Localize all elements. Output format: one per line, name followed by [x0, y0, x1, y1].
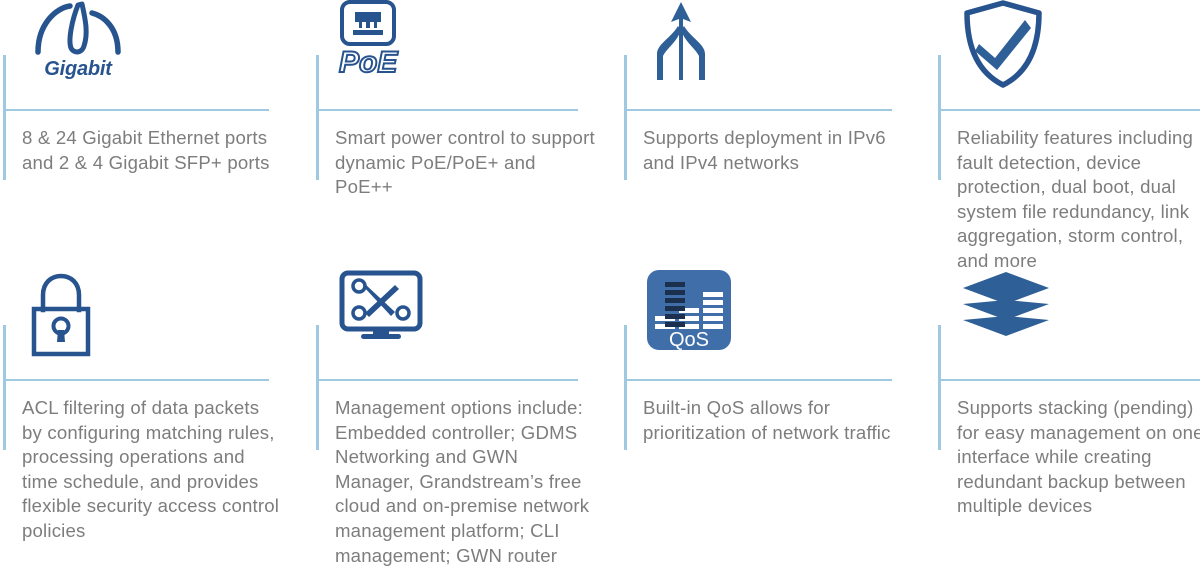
- feature-text: 8 & 24 Gigabit Ethernet ports and 2 & 4 …: [22, 126, 284, 175]
- svg-text:QoS: QoS: [669, 329, 709, 350]
- icon-zone: [20, 270, 280, 374]
- vertical-rule: [316, 55, 319, 180]
- icon-zone: [955, 0, 1200, 104]
- horizontal-rule: [938, 379, 1200, 381]
- shield-check-icon: [961, 0, 1045, 93]
- feature-row-bottom: ACL filtering of data packets by configu…: [0, 270, 1200, 540]
- vertical-rule: [938, 325, 941, 450]
- feature-row-top: Gigabit 8 & 24 Gigabit Ethernet ports an…: [0, 0, 1200, 270]
- horizontal-rule: [3, 109, 269, 111]
- feature-text: Reliability features including fault det…: [957, 126, 1200, 274]
- icon-zone: Gigabit: [20, 0, 280, 104]
- feature-cell-reliability: Reliability features including fault det…: [935, 0, 1200, 270]
- qos-equalizer-icon: QoS: [647, 270, 731, 355]
- vertical-rule: [624, 325, 627, 450]
- feature-text: Supports deployment in IPv6 and IPv4 net…: [643, 126, 893, 175]
- feature-text: Supports stacking (pending) for easy man…: [957, 396, 1200, 519]
- padlock-icon: [26, 270, 96, 365]
- feature-cell-ip-networks: Supports deployment in IPv6 and IPv4 net…: [621, 0, 935, 270]
- feature-cell-poe: PoE Smart power control to support dynam…: [313, 0, 621, 270]
- monitor-tools-icon: [339, 270, 423, 347]
- vertical-rule: [316, 325, 319, 450]
- feature-cell-qos: QoS Built-in QoS allows for prioritizati…: [621, 270, 935, 540]
- horizontal-rule: [624, 379, 892, 381]
- feature-cell-management: Management options include: Embedded con…: [313, 270, 621, 540]
- feature-text: ACL filtering of data packets by configu…: [22, 396, 284, 544]
- feature-text: Management options include: Embedded con…: [335, 396, 597, 568]
- gigabit-logo-icon: Gigabit: [26, 0, 130, 81]
- horizontal-rule: [624, 109, 892, 111]
- feature-cell-gigabit: Gigabit 8 & 24 Gigabit Ethernet ports an…: [0, 0, 313, 270]
- feature-text: Smart power control to support dynamic P…: [335, 126, 597, 200]
- poe-rj45-icon: PoE: [339, 0, 397, 80]
- horizontal-rule: [316, 379, 578, 381]
- vertical-rule: [3, 325, 6, 450]
- vertical-rule: [624, 55, 627, 180]
- feature-text: Built-in QoS allows for prioritization o…: [643, 396, 893, 445]
- feature-grid: Gigabit 8 & 24 Gigabit Ethernet ports an…: [0, 0, 1200, 568]
- gigabit-wordmark: Gigabit: [44, 58, 112, 81]
- horizontal-rule: [316, 109, 578, 111]
- feature-cell-stacking: Supports stacking (pending) for easy man…: [935, 270, 1200, 540]
- horizontal-rule: [938, 109, 1200, 111]
- merging-arrows-icon: [647, 0, 715, 89]
- feature-cell-acl: ACL filtering of data packets by configu…: [0, 270, 313, 540]
- icon-zone: [955, 270, 1200, 374]
- vertical-rule: [3, 55, 6, 180]
- vertical-rule: [938, 55, 941, 180]
- poe-wordmark: PoE: [339, 46, 397, 80]
- icon-zone: [333, 270, 593, 374]
- icon-zone: PoE: [333, 0, 593, 104]
- icon-zone: QoS: [641, 270, 901, 374]
- icon-zone: [641, 0, 901, 104]
- horizontal-rule: [3, 379, 269, 381]
- layers-stack-icon: [961, 270, 1051, 347]
